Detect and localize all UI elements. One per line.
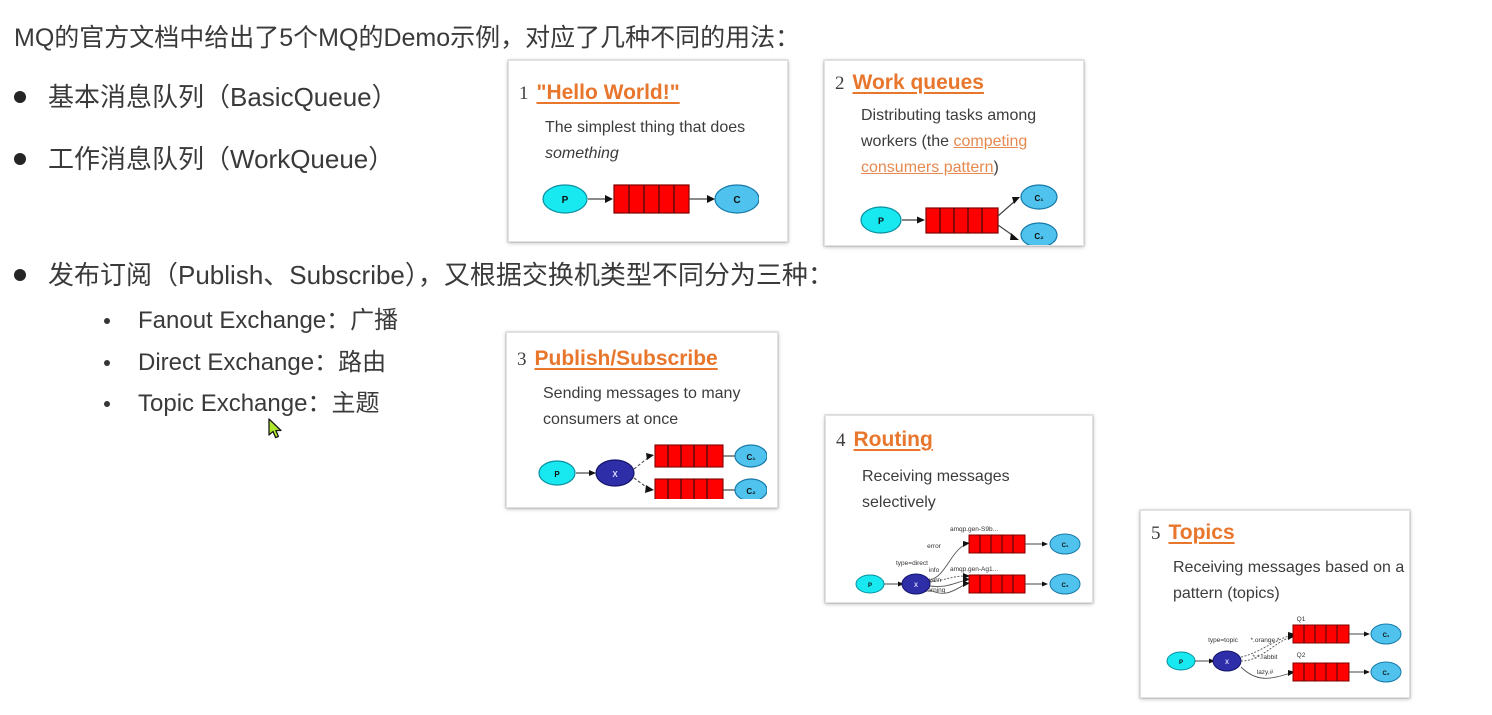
card-work-queues[interactable]: 2 Work queues Distributing tasks among w… [824, 60, 1084, 246]
bullet-work-queue: 工作消息队列（WorkQueue） [14, 140, 394, 178]
card-description: Sending messages to many consumers at on… [543, 381, 769, 433]
topics-key-orange: *.orange.* [1251, 637, 1280, 644]
svg-text:P: P [878, 216, 884, 226]
bullet-basic-queue: 基本消息队列（BasicQueue） [14, 78, 398, 116]
card-title-link[interactable]: Work queues [853, 71, 984, 95]
card-topics[interactable]: 5 Topics Receiving messages based on a p… [1140, 510, 1410, 698]
svg-text:C₁: C₁ [1062, 543, 1069, 549]
card-description-emphasis: something [545, 145, 619, 162]
routing-queue-top-label: amqp.gen-S9b... [950, 526, 998, 533]
card-description-suffix: ) [994, 159, 999, 176]
card-description: The simplest thing that does something [545, 115, 785, 167]
slide-canvas: MQ的官方文档中给出了5个MQ的Demo示例，对应了几种不同的用法： 基本消息队… [0, 0, 1492, 715]
sub-bullet-label: Direct Exchange：路由 [138, 344, 386, 382]
card-title-link[interactable]: Routing [854, 428, 933, 452]
svg-text:C₂: C₂ [1062, 583, 1069, 589]
card-description-text: The simplest thing that does [545, 119, 745, 136]
card-header: 5 Topics [1151, 521, 1409, 545]
svg-text:P: P [554, 470, 560, 479]
svg-text:X: X [914, 583, 918, 589]
topics-queue-bottom-label: Q2 [1297, 652, 1306, 659]
card-number: 2 [835, 73, 845, 95]
bullet-label: 基本消息队列（BasicQueue） [48, 78, 398, 116]
bullet-publish-subscribe: 发布订阅（Publish、Subscribe），又根据交换机类型不同分为三种： [14, 256, 834, 294]
routing-queue-bottom-label: amqp.gen-Ag1... [950, 566, 998, 573]
card-header: 3 Publish/Subscribe [517, 347, 777, 371]
card-number: 4 [836, 430, 846, 452]
page-title: MQ的官方文档中给出了5个MQ的Demo示例，对应了几种不同的用法： [14, 22, 800, 54]
diagram-hello-world: P C [539, 173, 787, 223]
bullet-dot-icon [14, 269, 26, 281]
topics-queue-top-label: Q1 [1297, 616, 1306, 623]
card-number: 5 [1151, 523, 1161, 545]
svg-text:C₁: C₁ [746, 453, 756, 462]
diagram-routing: amqp.gen-S9b... amqp.gen-Ag1... type=dir… [854, 518, 1092, 600]
routing-key-info: info [929, 567, 940, 574]
sub-bullet-label: Topic Exchange：主题 [138, 385, 379, 423]
diagram-publish-subscribe: P X [537, 437, 777, 499]
sub-bullet-dot-icon [104, 318, 110, 324]
svg-text:X: X [612, 470, 618, 479]
svg-text:P: P [868, 583, 872, 589]
card-number: 3 [517, 349, 527, 371]
svg-text:P: P [1179, 660, 1183, 666]
card-title-link[interactable]: "Hello World!" [537, 81, 680, 105]
sub-bullet-label: Fanout Exchange：广播 [138, 302, 398, 340]
svg-text:C₁: C₁ [1383, 633, 1390, 639]
card-number: 1 [519, 83, 529, 105]
card-description: Receiving messages based on a pattern (t… [1173, 555, 1405, 607]
card-header: 1 "Hello World!" [519, 81, 787, 105]
card-header: 2 Work queues [835, 71, 1083, 95]
card-description: Distributing tasks among workers (the co… [861, 103, 1051, 181]
card-routing[interactable]: 4 Routing Receiving messages selectively… [825, 415, 1093, 603]
card-publish-subscribe[interactable]: 3 Publish/Subscribe Sending messages to … [506, 332, 778, 508]
svg-text:C₁: C₁ [1034, 194, 1044, 203]
svg-text:C₂: C₂ [1034, 232, 1044, 241]
svg-text:C₂: C₂ [1383, 671, 1390, 677]
routing-type-label: type=direct [896, 560, 928, 567]
topics-type-label: type=topic [1208, 637, 1239, 644]
svg-text:C₂: C₂ [746, 487, 756, 496]
svg-text:X: X [1225, 660, 1229, 666]
topics-key-lazy: lazy.# [1257, 669, 1274, 676]
card-title-link[interactable]: Publish/Subscribe [535, 347, 718, 371]
card-title-link[interactable]: Topics [1169, 521, 1235, 545]
bullet-label: 工作消息队列（WorkQueue） [48, 140, 394, 178]
sub-bullet-dot-icon [104, 360, 110, 366]
sub-bullet-dot-icon [104, 401, 110, 407]
diagram-topics: Q1 Q2 type=topic *.orange.* *.*.rabbit l… [1165, 609, 1409, 689]
bullet-label: 发布订阅（Publish、Subscribe），又根据交换机类型不同分为三种： [48, 256, 834, 294]
sub-bullet-direct: Direct Exchange：路由 [104, 344, 386, 382]
bullet-dot-icon [14, 91, 26, 103]
svg-text:C: C [733, 195, 740, 206]
bullet-dot-icon [14, 153, 26, 165]
routing-key-error: error [927, 543, 942, 550]
svg-text:P: P [562, 195, 569, 206]
sub-bullet-fanout: Fanout Exchange：广播 [104, 302, 398, 340]
card-description: Receiving messages selectively [862, 464, 1062, 516]
sub-bullet-topic: Topic Exchange：主题 [104, 385, 379, 423]
card-hello-world[interactable]: 1 "Hello World!" The simplest thing that… [508, 60, 788, 242]
card-header: 4 Routing [836, 428, 1092, 452]
diagram-work-queues: P C₁ C₂ [859, 183, 1083, 245]
